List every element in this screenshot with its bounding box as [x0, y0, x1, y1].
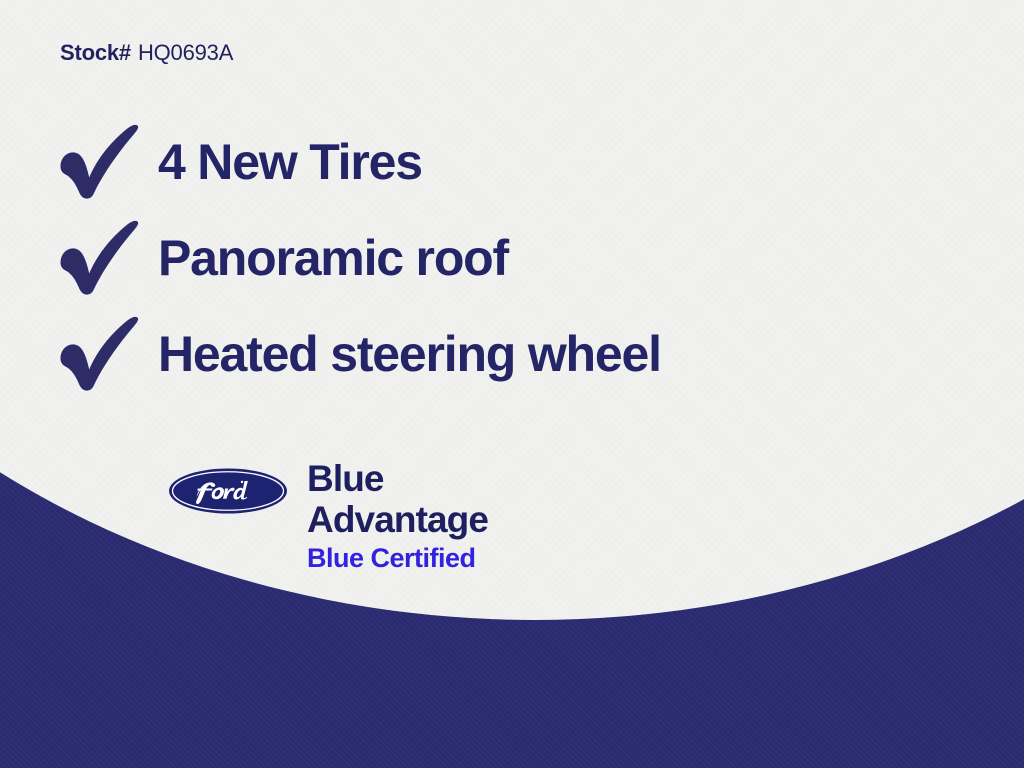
logo-line-advantage: Advantage — [307, 501, 488, 538]
ford-oval-logo-icon — [168, 467, 288, 515]
feature-label: Panoramic roof — [158, 233, 508, 283]
checkmark-icon — [56, 316, 140, 392]
stock-number: Stock#HQ0693A — [60, 40, 233, 66]
vehicle-feature-card: Stock#HQ0693A 4 New Tires Panoramic roof — [0, 0, 1024, 768]
stock-number-label: Stock# — [60, 40, 131, 65]
logo-line-blue-certified: Blue Certified — [307, 545, 488, 572]
feature-list-item: Heated steering wheel — [56, 306, 661, 402]
card-content: Stock#HQ0693A 4 New Tires Panoramic roof — [0, 0, 1024, 768]
checkmark-icon — [56, 124, 140, 200]
feature-list: 4 New Tires Panoramic roof Heated steeri… — [56, 114, 661, 402]
feature-label: Heated steering wheel — [158, 329, 661, 379]
blue-advantage-text: Blue Advantage Blue Certified — [307, 460, 488, 572]
feature-label: 4 New Tires — [158, 137, 422, 187]
feature-list-item: Panoramic roof — [56, 210, 661, 306]
logo-line-blue: Blue — [307, 460, 488, 497]
ford-blue-advantage-logo: Blue Advantage Blue Certified — [168, 460, 488, 572]
checkmark-icon — [56, 220, 140, 296]
feature-list-item: 4 New Tires — [56, 114, 661, 210]
stock-number-value: HQ0693A — [138, 40, 233, 65]
